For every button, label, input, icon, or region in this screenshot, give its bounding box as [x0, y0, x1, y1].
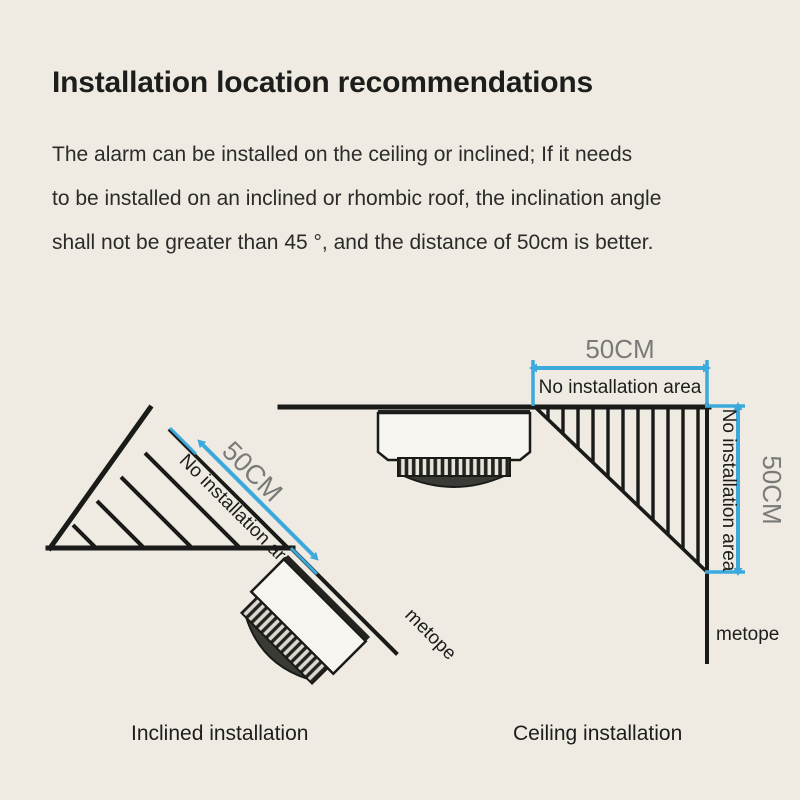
body-line-2: to be installed on an inclined or rhombi… — [52, 177, 764, 221]
ceiling-no-install-label-horizontal: No installation area — [539, 377, 702, 398]
inclined-dimension-tick-top — [170, 428, 196, 454]
caption-inclined-installation: Inclined installation — [131, 722, 308, 746]
ceiling-triangle-hypotenuse — [533, 405, 707, 572]
ceiling-smoke-alarm-device — [378, 410, 530, 487]
inclined-roof-line — [50, 408, 150, 548]
ceiling-dimension-label-horizontal: 50CM — [585, 334, 654, 364]
caption-ceiling-installation: Ceiling installation — [513, 722, 682, 746]
body-line-3: shall not be greater than 45 °, and the … — [52, 221, 764, 265]
ceiling-device-bottom-cap — [404, 476, 504, 487]
ceiling-metope-label: metope — [716, 624, 779, 645]
installation-diagram: 50CM No installation area metope — [0, 300, 800, 700]
body-line-1: The alarm can be installed on the ceilin… — [52, 133, 764, 177]
ceiling-no-install-label-vertical: No installation area — [718, 409, 739, 572]
ceiling-device-body — [378, 413, 530, 460]
page-root: Installation location recommendations Th… — [0, 0, 800, 800]
body-paragraph: The alarm can be installed on the ceilin… — [52, 133, 764, 265]
ceiling-no-install-hatching — [548, 400, 698, 590]
page-title: Installation location recommendations — [52, 66, 593, 100]
ceiling-dimension-label-vertical: 50CM — [757, 455, 787, 524]
ceiling-device-vent-ring — [398, 458, 510, 476]
inclined-smoke-alarm-device — [228, 555, 370, 697]
inclined-metope-label: metope — [400, 605, 460, 665]
inclined-installation-figure: 50CM No installation area metope — [0, 300, 460, 700]
